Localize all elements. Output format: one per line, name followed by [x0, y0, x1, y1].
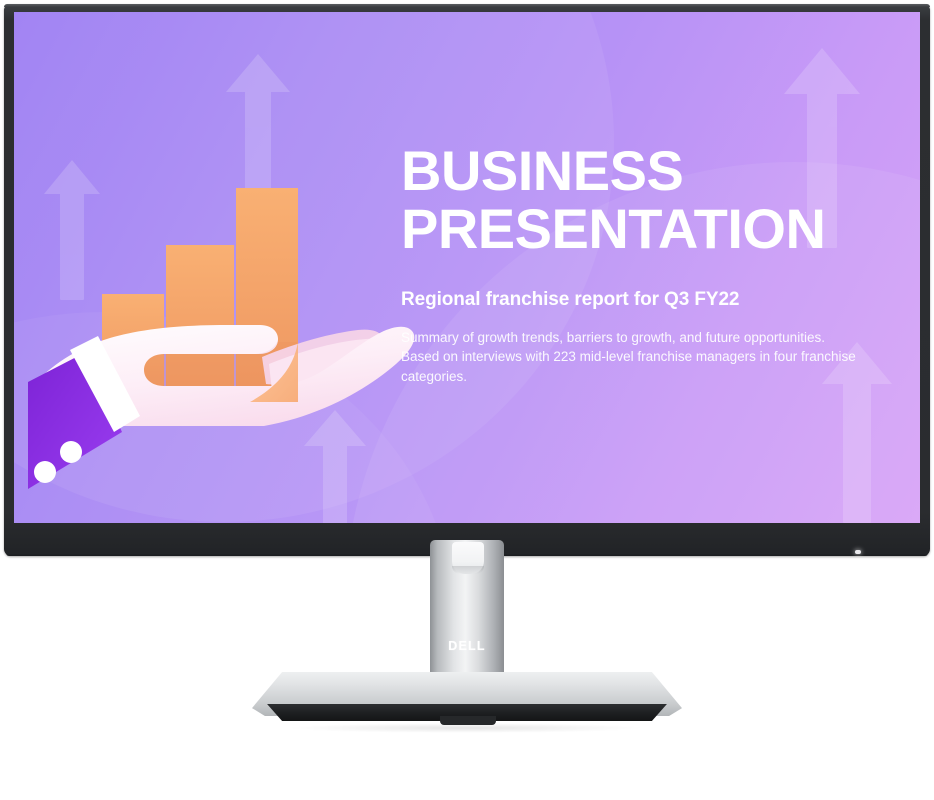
stand-neck — [430, 540, 504, 685]
power-led-icon[interactable] — [855, 550, 861, 554]
monitor-screen: BUSINESS PRESENTATION Regional franchise… — [14, 12, 920, 523]
stand-base-underside — [252, 704, 682, 721]
title-line-1: BUSINESS — [401, 139, 683, 202]
dell-monitor: BUSINESS PRESENTATION Regional franchise… — [4, 4, 930, 556]
stand-base-foot — [440, 716, 496, 725]
dell-logo: DELL — [430, 637, 504, 655]
sleeve-button-2 — [34, 461, 56, 483]
sleeve-button-1 — [60, 441, 82, 463]
bezel-bottom-edge — [6, 553, 928, 556]
presentation-slide: BUSINESS PRESENTATION Regional franchise… — [14, 12, 920, 523]
cable-slot-shadow — [452, 566, 484, 574]
page-title: BUSINESS PRESENTATION — [401, 142, 871, 258]
slide-text-block: BUSINESS PRESENTATION Regional franchise… — [401, 142, 871, 386]
bezel-top-highlight — [4, 4, 930, 7]
slide-subtitle: Regional franchise report for Q3 FY22 — [401, 289, 871, 312]
screenshot-root: BUSINESS PRESENTATION Regional franchise… — [0, 0, 934, 800]
stand-base-shadow — [286, 723, 646, 733]
slide-body-text: Summary of growth trends, barriers to gr… — [401, 328, 863, 385]
title-line-2: PRESENTATION — [401, 200, 871, 258]
stand-base-plate — [252, 672, 682, 716]
